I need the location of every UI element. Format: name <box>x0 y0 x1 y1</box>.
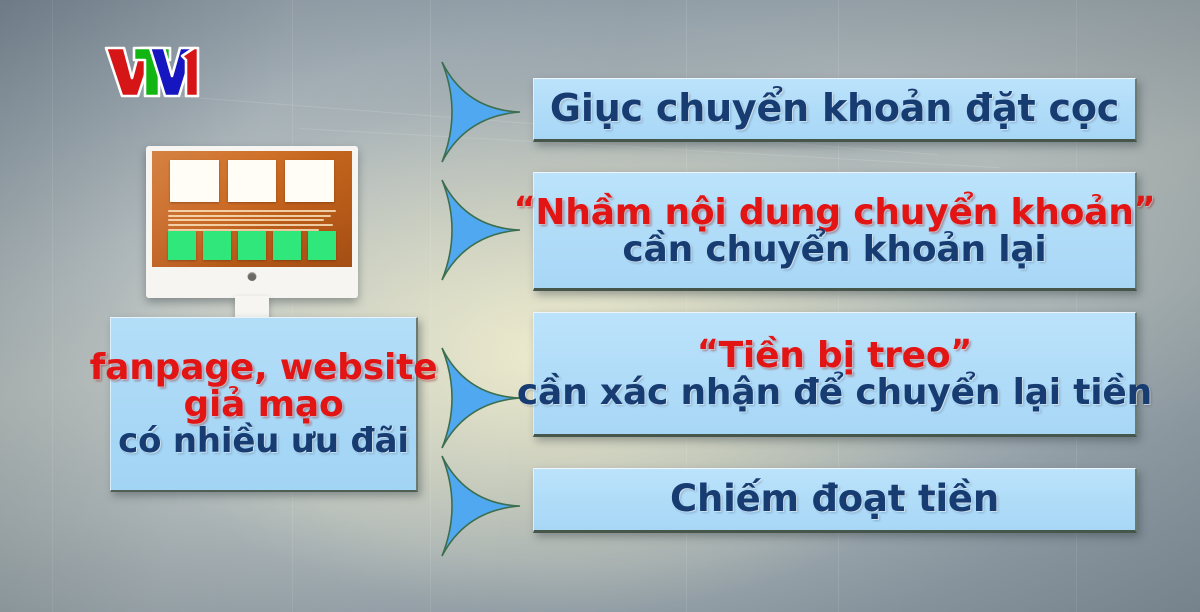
step-4-line-1: Chiếm đoạt tiền <box>670 480 999 518</box>
source-line-1: fanpage, website <box>90 349 438 386</box>
step-3-line-1-text: Tiền bị treo <box>719 335 951 376</box>
screen-text-line <box>168 210 336 212</box>
fake-website-monitor <box>146 146 358 298</box>
screen-green-chips <box>168 231 336 260</box>
step-1-line-1: Giục chuyển khoản đặt cọc <box>550 89 1119 129</box>
source-label-box: fanpage, website giả mạo có nhiều ưu đãi <box>110 317 418 492</box>
screen-text-line <box>168 224 333 226</box>
step-box-4: Chiếm đoạt tiền <box>533 468 1137 533</box>
screen-chip <box>273 231 301 260</box>
step-box-3: “Tiền bị treo” cần xác nhận để chuyển lạ… <box>533 312 1137 437</box>
flow-arrow-4 <box>432 452 524 560</box>
screen-text-line <box>168 215 331 217</box>
step-2-line-1-text: Nhầm nội dung chuyển khoản <box>535 192 1133 233</box>
monitor-screen <box>152 151 352 267</box>
flow-arrow-3 <box>432 344 524 452</box>
step-3-line-2: cần xác nhận để chuyển lại tiền <box>517 374 1152 411</box>
screen-text-line <box>168 219 324 221</box>
step-2-line-2: cần chuyển khoản lại <box>622 231 1046 268</box>
flow-arrow-2 <box>432 176 524 284</box>
vtv1-logo <box>104 44 200 98</box>
quote-open: “ <box>697 332 719 371</box>
screen-chip <box>203 231 231 260</box>
step-2-line-1: “Nhầm nội dung chuyển khoản” <box>514 192 1155 231</box>
screen-tile <box>228 160 277 202</box>
step-box-1: Giục chuyển khoản đặt cọc <box>533 78 1137 142</box>
screen-chip <box>168 231 196 260</box>
quote-close: ” <box>1134 189 1156 228</box>
flow-arrow-1 <box>432 58 524 166</box>
screen-chip <box>238 231 266 260</box>
screen-chip <box>308 231 336 260</box>
step-box-2: “Nhầm nội dung chuyển khoản” cần chuyển … <box>533 172 1137 291</box>
screen-tile <box>170 160 219 202</box>
quote-close: ” <box>950 332 972 371</box>
quote-open: “ <box>514 189 536 228</box>
screen-image-tiles <box>170 160 334 202</box>
monitor-power-dot <box>248 272 257 281</box>
screen-tile <box>285 160 334 202</box>
screen-text-lines <box>168 210 336 233</box>
step-3-line-1: “Tiền bị treo” <box>697 335 972 374</box>
source-line-2: giả mạo <box>183 386 343 423</box>
source-line-3: có nhiều ưu đãi <box>118 424 409 459</box>
